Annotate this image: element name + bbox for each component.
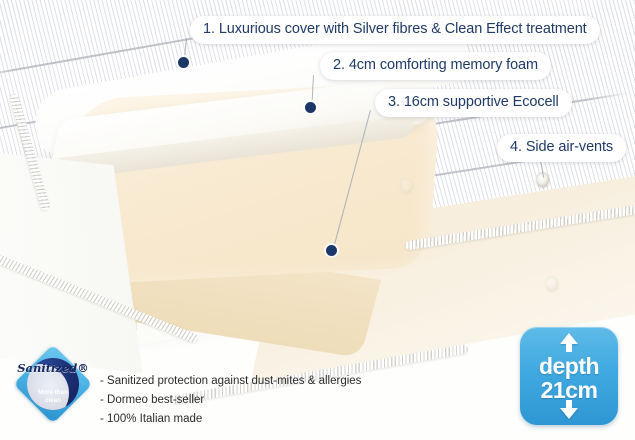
callout-label-2[interactable]: 2. 4cm comforting memory foam — [320, 52, 551, 80]
callout-label-1[interactable]: 1. Luxurious cover with Silver fibres & … — [190, 16, 600, 44]
callout-dot-2[interactable] — [305, 102, 316, 113]
callout-dot-1[interactable] — [178, 57, 189, 68]
feature-list-item: - Sanitized protection against dust-mite… — [100, 372, 361, 391]
depth-badge: depth 21cm — [520, 327, 618, 425]
sanitized-tagline-line1: More than — [14, 390, 92, 398]
sanitized-logo: Sanitized® More than clean — [14, 344, 92, 424]
mattress-product-image: 1. Luxurious cover with Silver fibres & … — [0, 0, 635, 440]
feature-list-item: - Dormeo best-seller — [100, 391, 361, 410]
feature-list: - Sanitized protection against dust-mite… — [100, 372, 361, 429]
callout-label-3[interactable]: 3. 16cm supportive Ecocell — [375, 89, 572, 117]
up-arrow-stem-icon — [566, 343, 572, 352]
callout-label-4[interactable]: 4. Side air-vents — [497, 134, 626, 162]
sanitized-wordmark: Sanitized® — [14, 361, 92, 375]
feature-list-item: - 100% Italian made — [100, 410, 361, 429]
sanitized-tagline-line2: clean — [14, 398, 92, 406]
callout-dot-3[interactable] — [326, 245, 337, 256]
depth-badge-label: depth — [520, 353, 618, 380]
sanitized-tagline: More than clean — [14, 390, 92, 405]
down-arrow-icon — [560, 408, 578, 419]
